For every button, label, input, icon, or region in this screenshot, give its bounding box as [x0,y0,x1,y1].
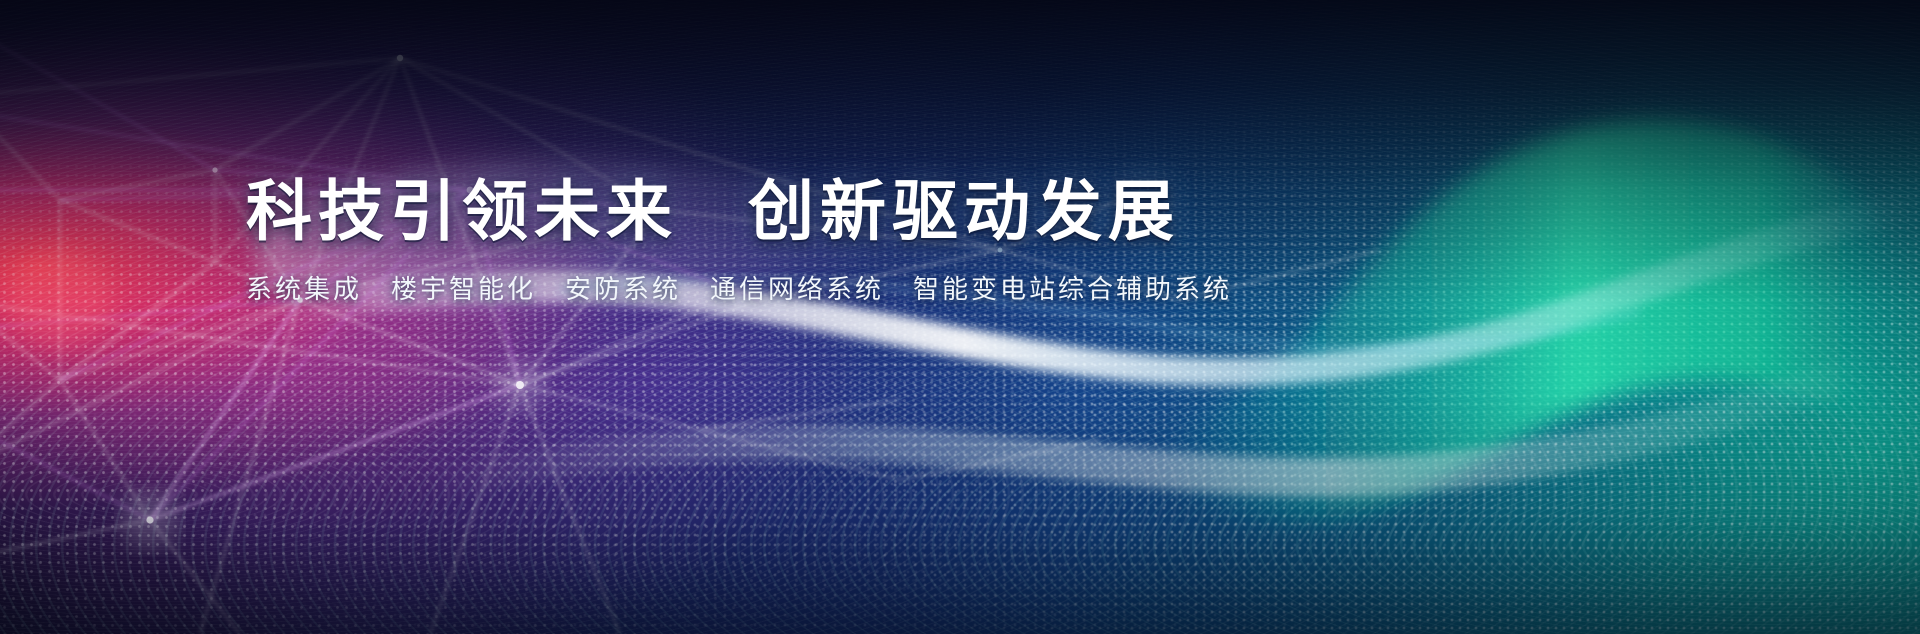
headline-part-1: 科技引领未来 [246,176,678,247]
headline-part-2: 创新驱动发展 [748,176,1180,247]
banner-text-block: 科技引领未来 创新驱动发展 系统集成 楼宇智能化 安防系统 通信网络系统 智能变… [246,176,1366,306]
subtitle-services: 系统集成 楼宇智能化 安防系统 通信网络系统 智能变电站综合辅助系统 [246,269,1366,306]
headline: 科技引领未来 创新驱动发展 [246,176,1366,247]
left-vignette [0,0,1920,634]
tech-hero-banner: 科技引领未来 创新驱动发展 系统集成 楼宇智能化 安防系统 通信网络系统 智能变… [0,0,1920,634]
